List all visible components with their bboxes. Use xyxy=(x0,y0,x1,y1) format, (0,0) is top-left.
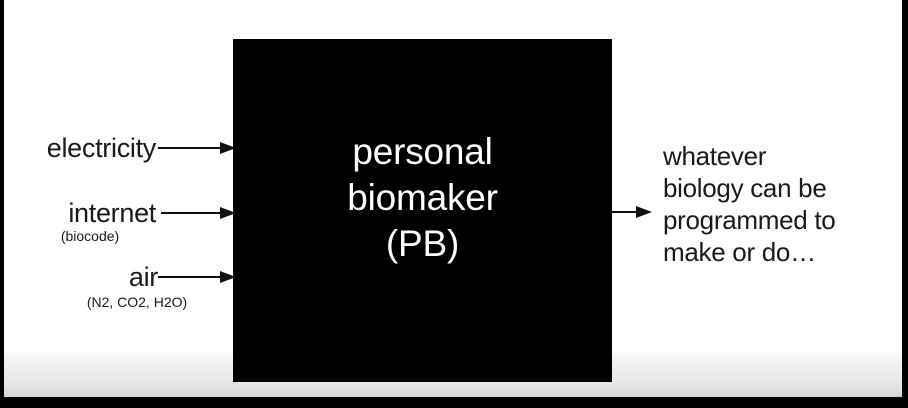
input-label-air: air xyxy=(0,262,158,292)
output-line-4: make or do… xyxy=(663,236,901,268)
diagram-canvas: electricity internet (biocode) air (N2, … xyxy=(0,0,908,408)
letterbox-bar-left xyxy=(0,0,4,408)
arrow-box-to-output xyxy=(610,203,652,221)
input-label-internet: internet xyxy=(0,198,156,228)
output-line-2: biology can be xyxy=(663,172,901,204)
output-line-1: whatever xyxy=(663,140,901,172)
output-text-block: whatever biology can be programmed to ma… xyxy=(663,140,901,268)
box-line-3: (PB) xyxy=(386,221,459,267)
output-line-3: programmed to xyxy=(663,204,901,236)
input-label-electricity: electricity xyxy=(0,133,156,163)
input-sublabel-air: (N2, CO2, H2O) xyxy=(58,294,216,310)
arrow-electricity-to-box xyxy=(158,139,236,157)
personal-biomaker-box: personal biomaker (PB) xyxy=(233,39,612,382)
arrow-air-to-box xyxy=(158,268,236,286)
box-line-2: biomaker xyxy=(347,175,498,221)
arrow-internet-to-box xyxy=(161,204,236,222)
letterbox-bar-bottom xyxy=(0,397,908,408)
letterbox-bar-right xyxy=(902,0,908,408)
input-sublabel-internet: (biocode) xyxy=(24,228,156,244)
box-line-1: personal xyxy=(352,129,492,175)
